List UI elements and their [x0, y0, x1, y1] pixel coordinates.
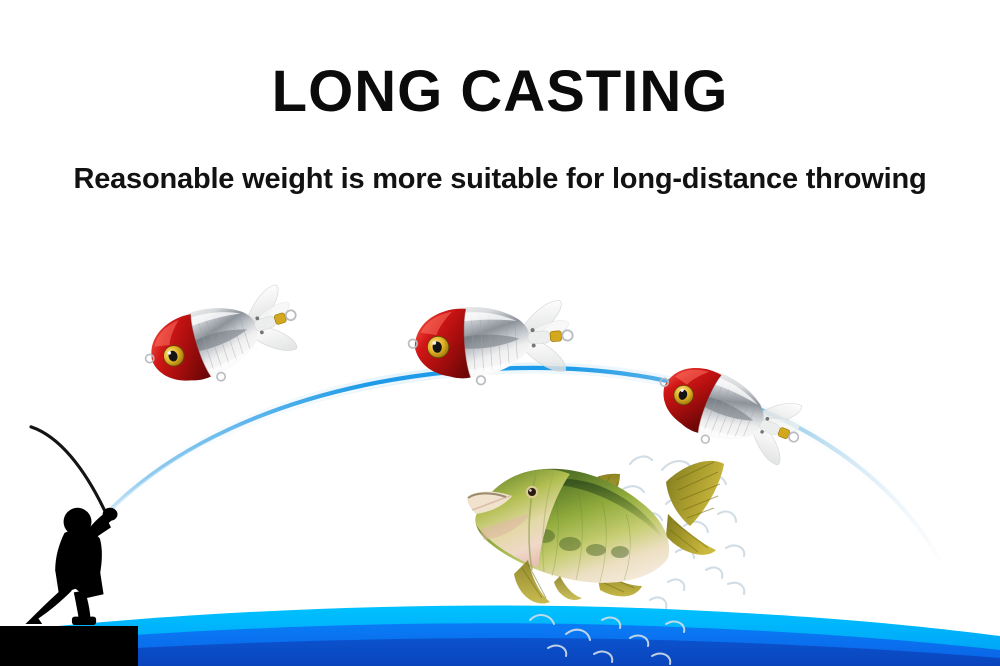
scene-illustration: [0, 0, 1000, 666]
propeller-lure-3: [645, 353, 810, 475]
water-waves: [0, 605, 1000, 666]
dock-platform: [0, 626, 138, 666]
bass-tail-fin: [666, 461, 724, 555]
fisherman-silhouette: [25, 427, 117, 625]
propeller-lure-1: [136, 282, 308, 401]
long-casting-banner: LONG CASTING Reasonable weight is more s…: [0, 0, 1000, 666]
casting-arc: [55, 368, 940, 585]
